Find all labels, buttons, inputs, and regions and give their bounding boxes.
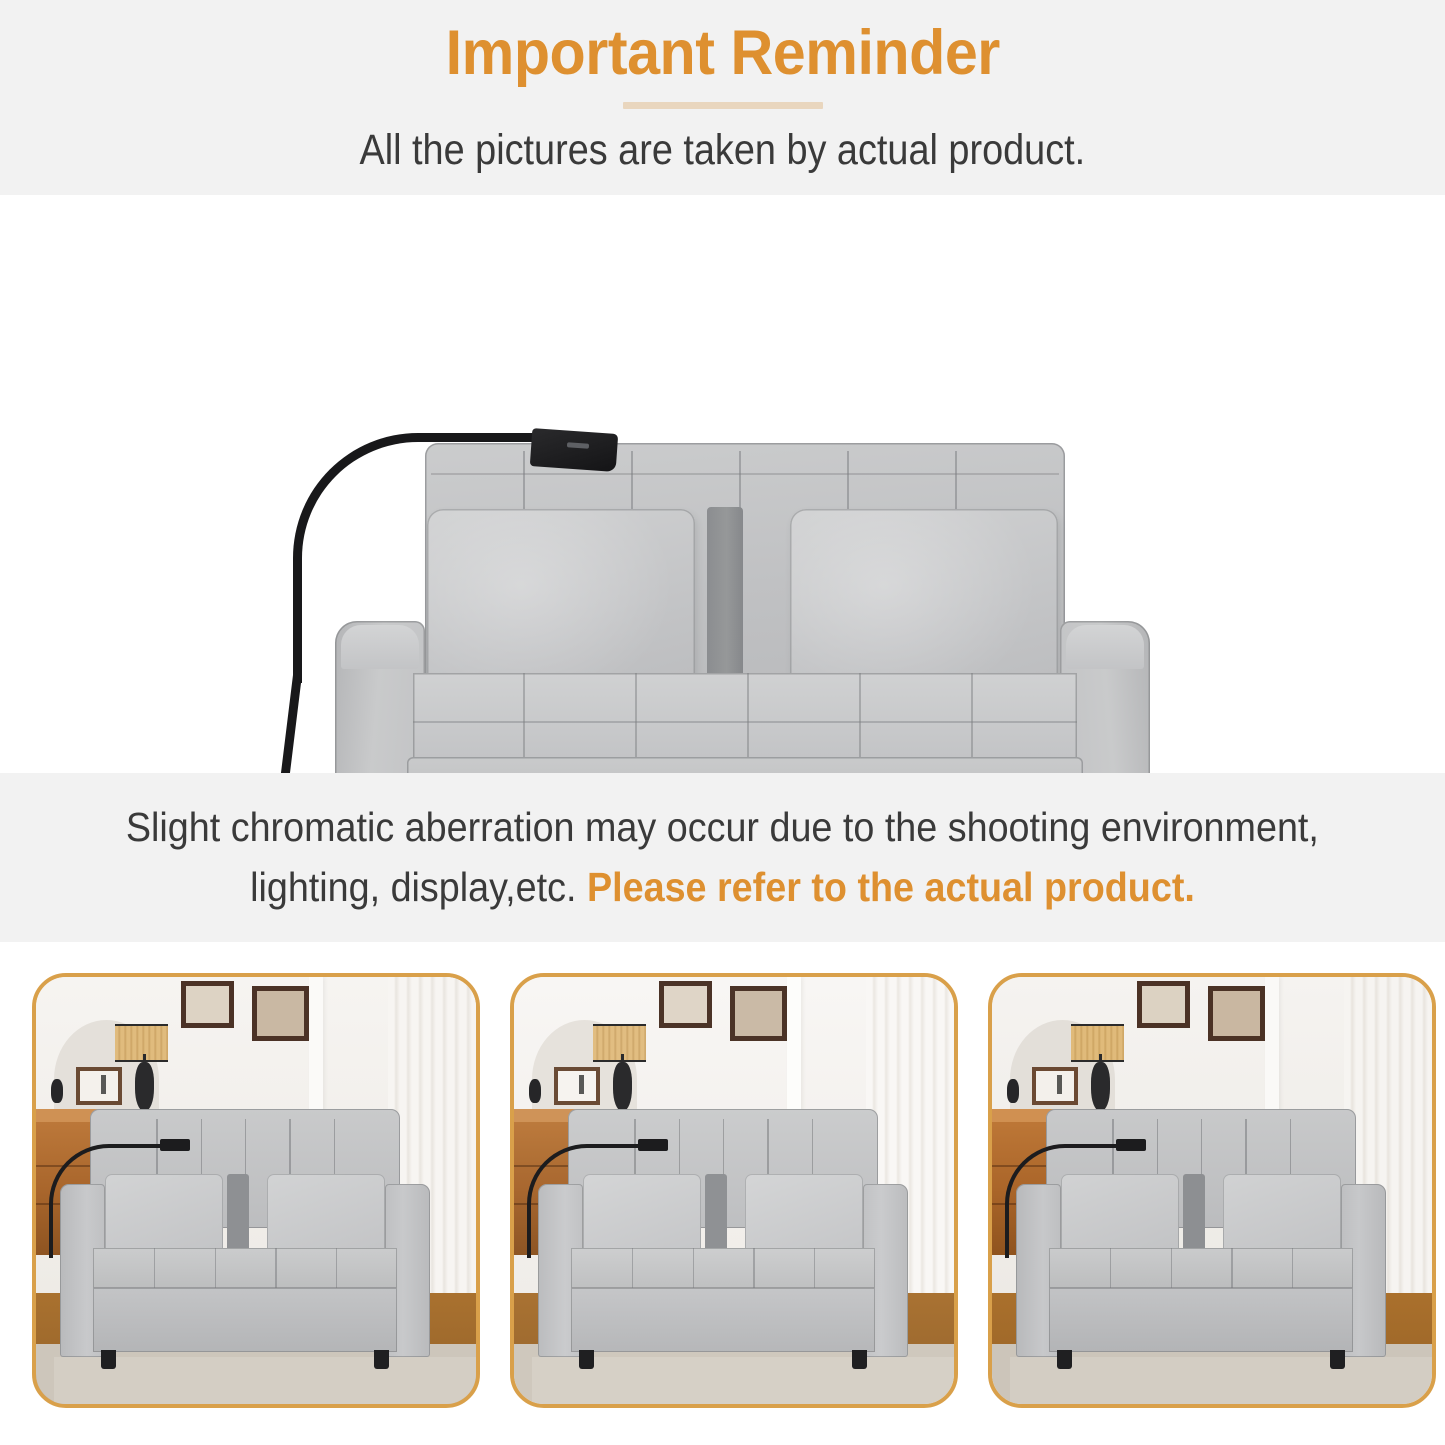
seat-seam <box>859 673 861 765</box>
title-underline-divider <box>623 102 823 109</box>
sofa-in-room-1 <box>60 1109 430 1357</box>
thumbnail-gallery-section <box>0 942 1445 1445</box>
reading-lamp-arm-tail <box>266 675 302 773</box>
gallery-thumbnail-3[interactable] <box>988 973 1436 1408</box>
decor-vase <box>1007 1079 1018 1102</box>
area-rug-front <box>54 1357 476 1404</box>
sofa-in-room-3 <box>1016 1109 1386 1357</box>
seat-seam <box>215 1248 216 1288</box>
sofa-leg-right <box>374 1350 389 1370</box>
seat-seam <box>336 1248 337 1288</box>
framed-picture-1 <box>1137 981 1190 1028</box>
gallery-thumbnail-2[interactable] <box>510 973 958 1408</box>
chromatic-aberration-disclaimer-band: Slight chromatic aberration may occur du… <box>0 773 1445 942</box>
rattan-lamp-shade <box>1071 1024 1124 1062</box>
lamp-base <box>135 1062 154 1111</box>
sofa-seat-cushion-tufted <box>413 673 1077 765</box>
reminder-header-band: Important Reminder All the pictures are … <box>0 0 1445 195</box>
pillow-center-gap <box>227 1174 249 1258</box>
reading-lamp-head <box>160 1139 190 1151</box>
rattan-lamp-shade <box>115 1024 168 1062</box>
seat-horizontal-seam <box>413 721 1077 723</box>
sofa-leg-left <box>1057 1350 1072 1370</box>
seat-seam <box>1292 1248 1293 1288</box>
seat-seam <box>753 1248 754 1288</box>
sofa-leg-right <box>1330 1350 1345 1370</box>
sofa-front-panel <box>93 1288 396 1352</box>
reading-lamp-arm <box>1005 1144 1131 1258</box>
seat-seam <box>814 1248 815 1288</box>
sofa-leg-right <box>852 1350 867 1370</box>
page-subtitle: All the pictures are taken by actual pro… <box>360 129 1086 172</box>
room-scene-1 <box>36 977 476 1404</box>
disclaimer-line-2: lighting, display,etc. Please refer to t… <box>250 858 1195 917</box>
tabletop-photo-frame <box>1032 1067 1078 1105</box>
reading-lamp-head <box>1116 1139 1146 1151</box>
sofa-front-panel <box>571 1288 874 1352</box>
framed-picture-2 <box>730 986 787 1042</box>
page-title: Important Reminder <box>445 22 999 85</box>
seat-seam <box>1231 1248 1232 1288</box>
tabletop-photo-frame <box>554 1067 600 1105</box>
photo-frame-content <box>1057 1075 1062 1094</box>
seat-seam <box>1171 1248 1172 1288</box>
reading-lamp-arm <box>527 1144 653 1258</box>
reading-lamp-arm <box>49 1144 175 1258</box>
sofa-front-cushion-edge <box>407 757 1083 773</box>
reading-lamp-head <box>530 428 618 472</box>
product-photo-section <box>0 195 1445 773</box>
disclaimer-line-2-plain: lighting, display,etc. <box>250 864 576 910</box>
lamp-base <box>613 1062 632 1111</box>
sofa-leg-left <box>579 1350 594 1370</box>
reading-lamp-arm <box>293 433 563 683</box>
sofa-front-panel <box>1049 1288 1352 1352</box>
seat-seam <box>747 673 749 765</box>
seat-seam <box>635 673 637 765</box>
sofa-in-room-2 <box>538 1109 908 1357</box>
framed-picture-2 <box>252 986 309 1042</box>
framed-picture-1 <box>659 981 712 1028</box>
framed-picture-1 <box>181 981 234 1028</box>
sofa-leg-left <box>101 1350 116 1370</box>
thumbnail-row <box>32 973 1436 1408</box>
gallery-thumbnail-1[interactable] <box>32 973 480 1408</box>
sofa-product-illustration <box>335 425 1150 773</box>
room-scene-3 <box>992 977 1432 1404</box>
decor-vase <box>51 1079 62 1102</box>
disclaimer-line-2-accent: Please refer to the actual product. <box>587 864 1195 910</box>
rattan-lamp-shade <box>593 1024 646 1062</box>
framed-picture-2 <box>1208 986 1265 1042</box>
reading-lamp-head <box>638 1139 668 1151</box>
pillow-center-gap <box>705 1174 727 1258</box>
decor-vase <box>529 1079 540 1102</box>
area-rug-front <box>532 1357 954 1404</box>
seat-seam <box>693 1248 694 1288</box>
tabletop-photo-frame <box>76 1067 122 1105</box>
pillow-center-gap <box>1183 1174 1205 1258</box>
disclaimer-line-1: Slight chromatic aberration may occur du… <box>126 798 1319 857</box>
photo-frame-content <box>101 1075 106 1094</box>
seat-seam <box>523 673 525 765</box>
area-rug-front <box>1010 1357 1432 1404</box>
photo-frame-content <box>579 1075 584 1094</box>
lamp-base <box>1091 1062 1110 1111</box>
sofa-arm-right-top-roll <box>1066 625 1144 669</box>
seat-seam <box>971 673 973 765</box>
room-scene-2 <box>514 977 954 1404</box>
seat-seam <box>275 1248 276 1288</box>
